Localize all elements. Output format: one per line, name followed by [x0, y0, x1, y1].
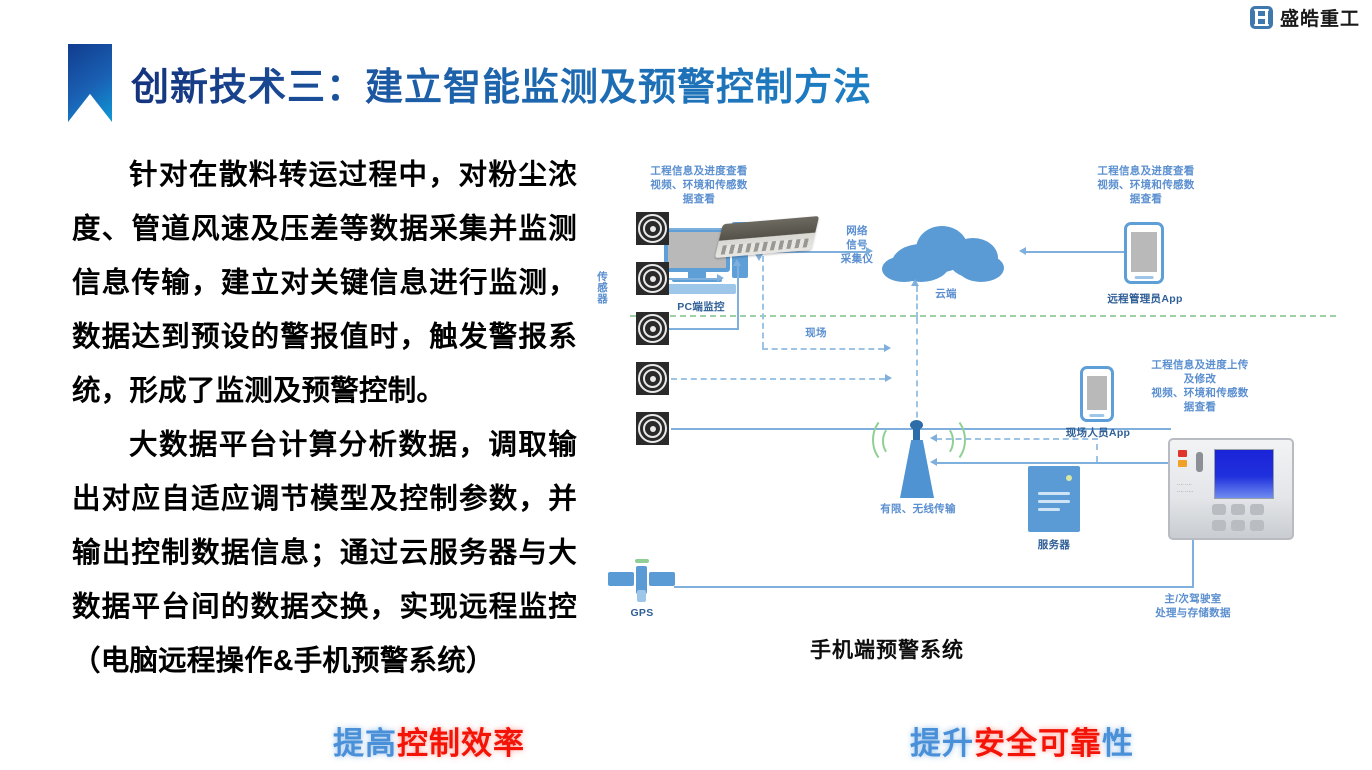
arrow-cloud-remote-icon	[1019, 247, 1026, 255]
slogan-right-blue-2: 性	[1102, 726, 1134, 761]
gps-wing-right-icon	[649, 572, 675, 586]
link-collector-tower	[762, 348, 884, 350]
sensor-icon	[636, 412, 669, 445]
sensor-icon	[636, 262, 669, 295]
body-text: 针对在散料转运过程中，对粉尘浓度、管道风速及压差等数据采集并监测信息传输，建立对…	[72, 148, 577, 688]
brand-name: 盛皓重工	[1280, 4, 1360, 31]
paragraph-2-post: ）	[466, 645, 495, 677]
bottom-bus-line	[674, 586, 1194, 588]
gps-tail-icon	[637, 590, 646, 602]
system-architecture-diagram: 工程信息及进度查看 视频、环境和传感数 据查看 PC端监控 云端 工程信息及进度…	[596, 160, 1336, 640]
slogan-right: 提升安全可靠性	[910, 718, 1134, 763]
link-tower-cloud-upper	[916, 286, 918, 318]
cloud-icon	[882, 222, 1010, 282]
link-sensor3-up	[737, 266, 739, 328]
server-icon	[1028, 466, 1080, 532]
remote-admin-phone-icon	[1124, 222, 1164, 284]
site-divider-line	[630, 315, 1336, 317]
link-field-down	[1096, 444, 1098, 462]
brand-logo: 盛皓重工	[1250, 4, 1360, 31]
arrow-sensor2-icon	[717, 274, 724, 282]
title-row: 创新技术三：建立智能监测及预警控制方法	[0, 44, 1372, 114]
arrow-server-tower-icon	[930, 458, 937, 466]
cloud-name-label: 云端	[896, 287, 996, 301]
transmission-tower-icon	[900, 440, 934, 498]
arrow-tower-cloud-icon	[911, 279, 919, 286]
arrow-field-tower-icon	[930, 434, 937, 442]
slogan-left-blue: 提高	[333, 726, 397, 761]
slogan-left: 提高控制效率	[333, 718, 525, 763]
server-name-label: 服务器	[1008, 538, 1100, 552]
tower-name-label: 有限、无线传输	[860, 502, 976, 516]
h-logo-icon	[1250, 6, 1273, 29]
paragraph-2: 大数据平台计算分析数据，调取输出对应自适应调节模型及控制参数，并输出控制数据信息…	[72, 418, 577, 688]
control-panel-icon: ···· ···· ···· ·····	[1168, 438, 1294, 540]
sensor-icon	[636, 312, 669, 345]
sensors-label: 传感器	[594, 252, 608, 322]
cab-note-label: 主/次驾驶室 处理与存储数据	[1118, 592, 1268, 620]
link-field-tower	[936, 438, 1098, 440]
signal-wave-left-inner-icon	[882, 426, 902, 456]
remote-name-label: 远程管理员App	[1092, 292, 1198, 306]
arrow-sensor4-icon	[885, 374, 892, 382]
link-sensor3	[669, 328, 739, 330]
site-divider-label: 现场	[776, 326, 856, 340]
slogan-right-red: 安全可靠	[974, 726, 1102, 761]
link-tower-cloud-lower	[916, 318, 918, 428]
signal-wave-right-inner-icon	[934, 426, 954, 456]
pc-note-label: 工程信息及进度查看 视频、环境和传感数 据查看	[624, 164, 774, 206]
link-sensor4-tower	[671, 378, 885, 380]
remote-note-label: 工程信息及进度查看 视频、环境和传感数 据查看	[1066, 164, 1226, 206]
paragraph-2-strong: 手机预警系统	[294, 645, 466, 677]
link-panel-bus	[1192, 540, 1194, 588]
sensor-icon	[636, 212, 669, 245]
sensor-icon	[636, 362, 669, 395]
field-staff-phone-icon	[1080, 366, 1114, 422]
paragraph-1: 针对在散料转运过程中，对粉尘浓度、管道风速及压差等数据采集并监测信息传输，建立对…	[72, 148, 577, 418]
arrow-sensor3-icon	[733, 259, 741, 266]
pc-keyboard-icon	[662, 284, 736, 294]
field-note-label: 工程信息及进度上传 及修改 视频、环境和传感数 据查看	[1126, 358, 1274, 414]
slogan-left-red: 控制效率	[397, 726, 525, 761]
ribbon-marker-icon	[68, 44, 112, 122]
diagram-caption: 手机端预警系统	[810, 634, 964, 664]
slogan-right-blue-1: 提升	[910, 726, 974, 761]
link-collector-down	[762, 256, 764, 348]
link-sensor2	[669, 278, 717, 280]
collector-name-label: 网络 信号 采集仪	[824, 224, 890, 266]
page-title: 创新技术三：建立智能监测及预警控制方法	[131, 56, 872, 111]
gps-antenna-icon	[635, 559, 649, 563]
arrow-collector-tower-icon	[884, 344, 891, 352]
gps-wing-left-icon	[608, 572, 634, 586]
paragraph-2-pre: 大数据平台计算分析数据，调取输出对应自适应调节模型及控制参数，并输出控制数据信息…	[72, 429, 577, 677]
gps-name-label: GPS	[614, 606, 670, 620]
link-server-tower	[936, 462, 1184, 464]
